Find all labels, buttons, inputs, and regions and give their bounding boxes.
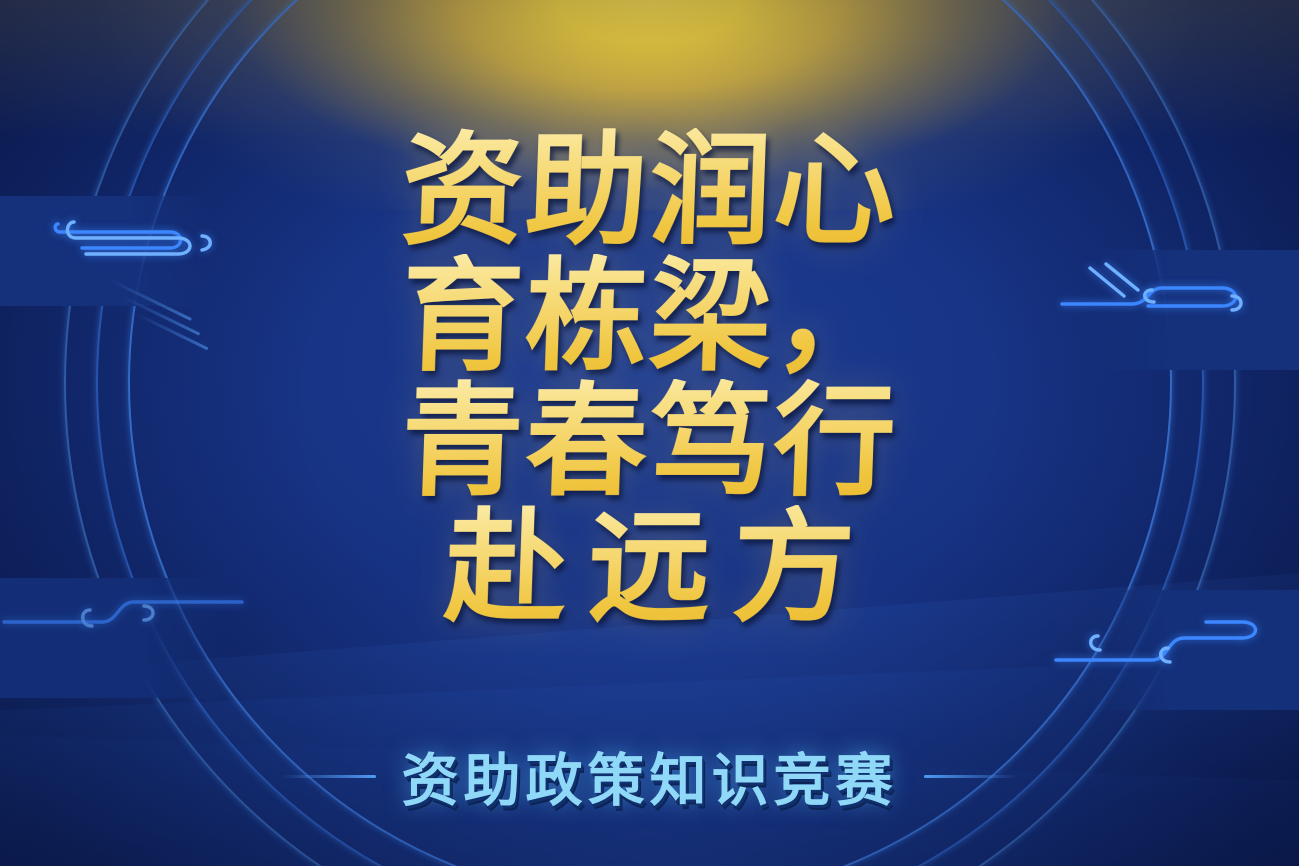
poster-title: 资助润心 育栋梁， 青春笃行 赴远方 xyxy=(0,128,1299,631)
title-line-4: 赴远方 xyxy=(0,505,1299,631)
subtitle-rule-left xyxy=(281,775,376,778)
title-line-3: 青春笃行 xyxy=(0,379,1299,505)
title-line-2: 育栋梁， xyxy=(0,254,1299,380)
poster-canvas: 资助润心 育栋梁， 青春笃行 赴远方 资助政策知识竞赛 xyxy=(0,0,1299,866)
subtitle-text: 资助政策知识竞赛 xyxy=(402,735,898,817)
subtitle-rule-right xyxy=(924,775,1019,778)
title-line-1: 资助润心 xyxy=(0,128,1299,254)
subtitle-row: 资助政策知识竞赛 xyxy=(0,735,1299,817)
